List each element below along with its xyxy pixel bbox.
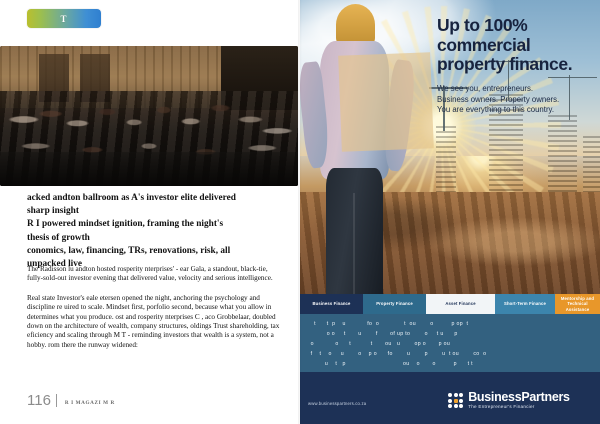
business-partners-logo: BusinessPartners The Entrepreneur's Fina…: [448, 391, 570, 410]
tab-mentorship-technical-assistance[interactable]: Mentorship and Technical Assistance: [555, 294, 600, 314]
tab-property-finance[interactable]: Property Finance: [363, 294, 426, 314]
logo-dot-4: [448, 399, 452, 403]
section-tag-label: T: [60, 14, 67, 24]
magazine-spread: T acked andton ballroom as A's investor …: [0, 0, 600, 424]
logo-wordmark-block: BusinessPartners The Entrepreneur's Fina…: [468, 391, 570, 410]
advert-footer: www.businesspartners.co.za BusinessPartn…: [300, 372, 600, 424]
tab-asset-finance[interactable]: Asset Finance: [426, 294, 495, 314]
logo-dot-1: [448, 393, 452, 397]
left-page-footer: 116 R I MAGAZI M R: [27, 393, 115, 408]
logo-dot-grid-icon: [448, 393, 463, 408]
worker-legs: [326, 168, 383, 300]
tab-business-finance[interactable]: Business Finance: [300, 294, 363, 314]
lead-line-5: conomics, law, financing, TRs, renovatio…: [27, 245, 285, 258]
crane-jib-3: [548, 77, 597, 79]
lead-line-4: thesis of growth: [27, 232, 285, 245]
advert-headline: Up to 100% commercial property finance.: [437, 16, 589, 75]
logo-dot-3: [459, 393, 463, 397]
right-page-advert: Up to 100% commercial property finance. …: [300, 0, 600, 424]
logo-dot-accent: [454, 399, 458, 403]
body-paragraph-2: Real state Investor's eale etersen opene…: [27, 294, 285, 350]
photo-front-tables: [0, 152, 298, 186]
website-url[interactable]: www.businesspartners.co.za: [308, 401, 366, 406]
logo-dot-2: [454, 393, 458, 397]
left-page: T acked andton ballroom as A's investor …: [0, 0, 300, 424]
lead-line-1: acked andton ballroom as A's investor el…: [27, 192, 285, 205]
lead-line-2: sharp insight: [27, 205, 285, 218]
page-number: 116: [27, 393, 51, 408]
tab-short-term-finance[interactable]: Short-Term Finance: [495, 294, 555, 314]
publication-name: R I MAGAZI M R: [65, 400, 115, 408]
lead-line-3: R I powered mindset ignition, framing th…: [27, 218, 285, 231]
section-tag-pill: T: [27, 9, 101, 28]
logo-dot-7: [448, 404, 452, 408]
logo-tagline: The Entrepreneur's Financier: [468, 404, 570, 410]
body-paragraph-1: The Radisson lu andton hosted rosperity …: [27, 265, 285, 284]
advert-subheadline: We see you, entrepreneurs. Business owne…: [437, 84, 587, 116]
article-lead: acked andton ballroom as A's investor el…: [27, 192, 285, 271]
conference-photo: [0, 46, 298, 186]
logo-dot-6: [459, 399, 463, 403]
beige-overlay-panel: [338, 52, 434, 151]
footer-divider: [56, 394, 57, 407]
logo-dot-8: [454, 404, 458, 408]
product-tab-bar: Business Finance Property Finance Asset …: [300, 294, 600, 314]
logo-dot-9: [459, 404, 463, 408]
article-body: The Radisson lu andton hosted rosperity …: [27, 265, 285, 360]
hard-hat-icon: [336, 4, 376, 46]
logo-name: BusinessPartners: [468, 391, 570, 404]
advert-body-copy: t t p u fo o t ou o p op t o o t u f of …: [300, 314, 600, 372]
